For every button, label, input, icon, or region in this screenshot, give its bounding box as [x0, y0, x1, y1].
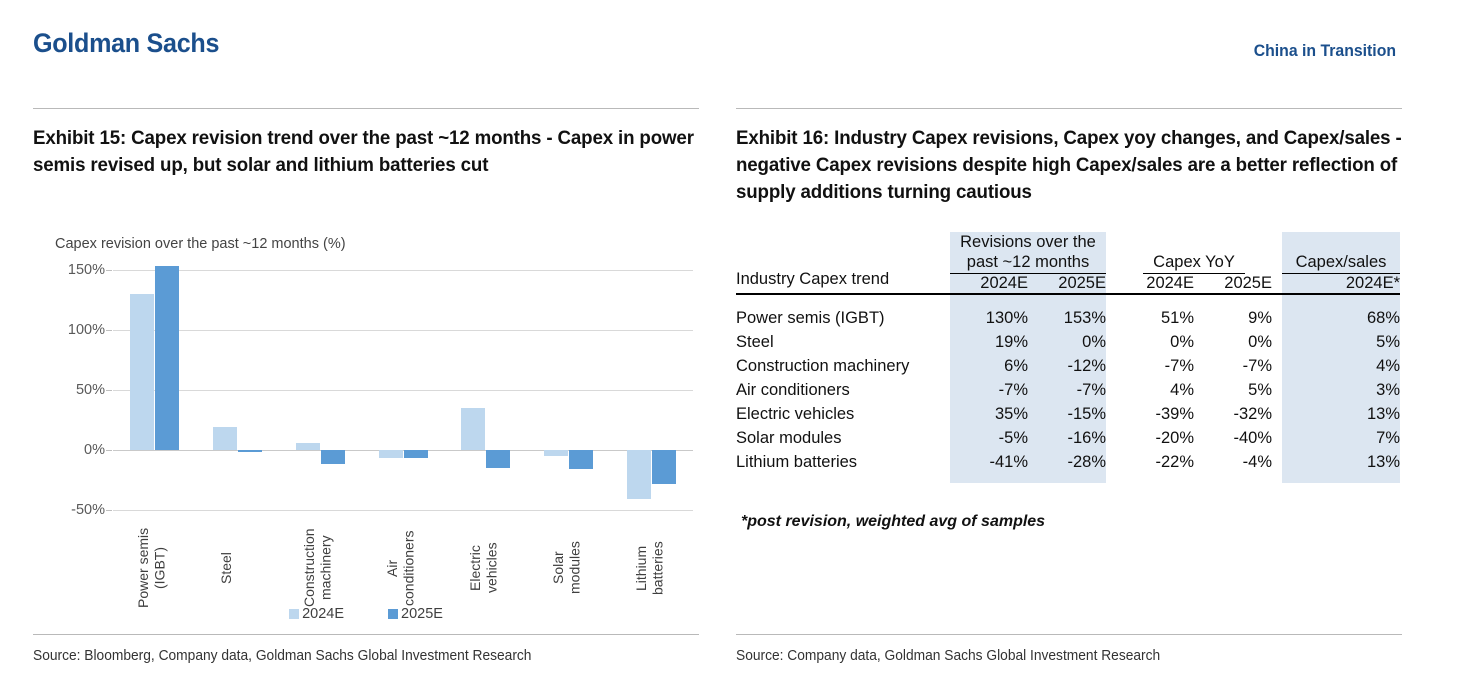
table-bottom-pad-row [736, 474, 1400, 483]
chart-bar [130, 294, 154, 450]
table-group-header-text: Capex YoY [1143, 252, 1245, 274]
divider-bottom-left [33, 634, 699, 635]
table-column-gap [1272, 306, 1282, 330]
table-column-gap [1106, 232, 1116, 274]
table-row-name: Electric vehicles [736, 402, 950, 426]
legend-item: 2024E [289, 606, 344, 622]
chart-gridline [113, 270, 693, 271]
table-pad-cell [1106, 474, 1116, 483]
table-pad-cell [1028, 474, 1106, 483]
chart-y-tick-mark [106, 330, 112, 331]
table-column-gap [1272, 450, 1282, 474]
chart-bar [296, 443, 320, 450]
table-row[interactable]: Construction machinery6%-12%-7%-7%4% [736, 354, 1400, 378]
divider-top-left [33, 108, 699, 109]
table-row[interactable]: Electric vehicles35%-15%-39%-32%13% [736, 402, 1400, 426]
table-cell-value: 0% [1194, 330, 1272, 354]
chart-plot-area: 150%100%50%0%-50% [113, 270, 693, 510]
table-row-name: Steel [736, 330, 950, 354]
table-pad-cell [950, 474, 1028, 483]
table-footnote: *post revision, weighted avg of samples [741, 513, 1045, 531]
exhibit-16-title: Exhibit 16: Industry Capex revisions, Ca… [736, 125, 1408, 206]
table-cell-value: -16% [1028, 426, 1106, 450]
chart-bar [213, 427, 237, 450]
table-cell-value: 4% [1282, 354, 1400, 378]
table-cell-value: -39% [1116, 402, 1194, 426]
table-spacer-row [736, 294, 1400, 306]
chart-bar [404, 450, 428, 458]
table-spacer-cell [1106, 294, 1116, 306]
table-column-gap [1272, 274, 1282, 293]
chart-y-tick-mark [106, 510, 112, 511]
table-row-name: Solar modules [736, 426, 950, 450]
source-note-left: Source: Bloomberg, Company data, Goldman… [33, 648, 531, 664]
chart-y-tick-label: 0% [84, 442, 105, 458]
table-column-gap [1106, 274, 1116, 293]
chart-axis-caption: Capex revision over the past ~12 months … [55, 236, 346, 252]
table-row[interactable]: Power semis (IGBT)130%153%51%9%68% [736, 306, 1400, 330]
table-group-header: Capex/sales [1282, 232, 1400, 274]
table-column-gap [1106, 354, 1116, 378]
chart-y-tick-label: 100% [68, 322, 105, 338]
chart-bar [379, 450, 403, 458]
page-header: Goldman Sachs China in Transition [33, 28, 1396, 74]
table-cell-value: -22% [1116, 450, 1194, 474]
table-column-gap [1272, 354, 1282, 378]
table-cell-value: -32% [1194, 402, 1272, 426]
legend-color-swatch [289, 609, 299, 619]
table-cell-value: 6% [950, 354, 1028, 378]
table-cell-value: 51% [1116, 306, 1194, 330]
table-spacer-cell [736, 294, 950, 306]
table-header-group-row: Industry Capex trendRevisions over the p… [736, 232, 1400, 274]
table-year-header: 2024E* [1282, 274, 1400, 293]
table-column-gap [1272, 232, 1282, 274]
table-row-name: Air conditioners [736, 378, 950, 402]
table-cell-value: -7% [1116, 354, 1194, 378]
industry-capex-table-wrap: Industry Capex trendRevisions over the p… [736, 232, 1402, 483]
table-cell-value: 68% [1282, 306, 1400, 330]
chart-y-tick-label: -50% [71, 502, 105, 518]
report-series-title: China in Transition [1254, 41, 1396, 61]
table-column-gap [1106, 402, 1116, 426]
table-year-header: 2025E [1028, 274, 1106, 293]
table-row[interactable]: Lithium batteries-41%-28%-22%-4%13% [736, 450, 1400, 474]
chart-y-tick-label: 50% [76, 382, 105, 398]
chart-y-tick-label: 150% [68, 262, 105, 278]
table-cell-value: -7% [950, 378, 1028, 402]
table-row-name: Construction machinery [736, 354, 950, 378]
table-column-gap [1106, 330, 1116, 354]
chart-y-tick-mark [106, 450, 112, 451]
table-year-header: 2025E [1194, 274, 1272, 293]
table-row[interactable]: Steel19%0%0%0%5% [736, 330, 1400, 354]
table-pad-cell [1116, 474, 1194, 483]
table-cell-value: 130% [950, 306, 1028, 330]
chart-legend: 2024E2025E [33, 606, 699, 622]
source-note-right: Source: Company data, Goldman Sachs Glob… [736, 648, 1160, 664]
legend-item: 2025E [388, 606, 443, 622]
table-cell-value: 4% [1116, 378, 1194, 402]
table-pad-cell [1272, 474, 1282, 483]
table-column-gap [1272, 378, 1282, 402]
table-cell-value: -5% [950, 426, 1028, 450]
chart-gridline [113, 510, 693, 511]
table-column-gap [1272, 330, 1282, 354]
table-column-gap [1106, 306, 1116, 330]
divider-bottom-right [736, 634, 1402, 635]
table-pad-cell [736, 474, 950, 483]
chart-bar [321, 450, 345, 464]
table-cell-value: -7% [1028, 378, 1106, 402]
table-cell-value: -41% [950, 450, 1028, 474]
table-year-header: 2024E [1116, 274, 1194, 293]
chart-bar [544, 450, 568, 456]
table-spacer-cell [1194, 294, 1272, 306]
industry-capex-table: Industry Capex trendRevisions over the p… [736, 232, 1400, 483]
table-cell-value: -12% [1028, 354, 1106, 378]
table-column-gap [1272, 426, 1282, 450]
table-spacer-cell [950, 294, 1028, 306]
table-row-name: Lithium batteries [736, 450, 950, 474]
exhibit-15-panel: Exhibit 15: Capex revision trend over th… [33, 108, 699, 179]
table-row-name: Power semis (IGBT) [736, 306, 950, 330]
table-column-gap [1106, 426, 1116, 450]
table-spacer-cell [1272, 294, 1282, 306]
table-group-header: Revisions over the past ~12 months [950, 232, 1106, 274]
table-pad-cell [1194, 474, 1272, 483]
table-spacer-cell [1028, 294, 1106, 306]
table-cell-value: 9% [1194, 306, 1272, 330]
table-year-header: 2024E [950, 274, 1028, 293]
table-cell-value: -28% [1028, 450, 1106, 474]
table-cell-value: 3% [1282, 378, 1400, 402]
table-cell-value: 13% [1282, 450, 1400, 474]
chart-bar [486, 450, 510, 468]
table-cell-value: 13% [1282, 402, 1400, 426]
legend-color-swatch [388, 609, 398, 619]
table-cell-value: 0% [1116, 330, 1194, 354]
chart-bar [238, 450, 262, 452]
chart-bar [627, 450, 651, 499]
chart-bar [569, 450, 593, 469]
table-group-header-text: Capex/sales [1282, 252, 1400, 274]
table-spacer-cell [1116, 294, 1194, 306]
table-cell-value: 5% [1282, 330, 1400, 354]
table-column-gap [1106, 378, 1116, 402]
table-row[interactable]: Air conditioners-7%-7%4%5%3% [736, 378, 1400, 402]
table-cell-value: 35% [950, 402, 1028, 426]
capex-revision-bar-chart: Capex revision over the past ~12 months … [33, 236, 699, 626]
table-group-header: Capex YoY [1116, 232, 1272, 274]
chart-y-tick-mark [106, 390, 112, 391]
chart-bar [652, 450, 676, 484]
chart-gridline [113, 330, 693, 331]
chart-bar [461, 408, 485, 450]
table-row[interactable]: Solar modules-5%-16%-20%-40%7% [736, 426, 1400, 450]
chart-y-tick-mark [106, 270, 112, 271]
legend-label: 2024E [302, 606, 344, 622]
table-cell-value: 5% [1194, 378, 1272, 402]
report-page: Goldman Sachs China in Transition Exhibi… [0, 0, 1478, 680]
table-cell-value: 7% [1282, 426, 1400, 450]
divider-top-right [736, 108, 1402, 109]
legend-label: 2025E [401, 606, 443, 622]
table-group-header-text: Revisions over the past ~12 months [950, 232, 1106, 274]
goldman-sachs-logo-text: Goldman Sachs [33, 28, 219, 59]
table-cell-value: 153% [1028, 306, 1106, 330]
table-cell-value: -15% [1028, 402, 1106, 426]
exhibit-16-panel: Exhibit 16: Industry Capex revisions, Ca… [736, 108, 1402, 206]
table-cell-value: 0% [1028, 330, 1106, 354]
table-cell-value: -7% [1194, 354, 1272, 378]
chart-gridline [113, 390, 693, 391]
table-cell-value: 19% [950, 330, 1028, 354]
table-cell-value: -4% [1194, 450, 1272, 474]
table-column-gap [1272, 402, 1282, 426]
chart-bar [155, 266, 179, 450]
table-corner-label: Industry Capex trend [736, 232, 950, 293]
table-pad-cell [1282, 474, 1400, 483]
table-column-gap [1106, 450, 1116, 474]
table-spacer-cell [1282, 294, 1400, 306]
exhibit-15-title: Exhibit 15: Capex revision trend over th… [33, 125, 705, 179]
table-cell-value: -20% [1116, 426, 1194, 450]
table-cell-value: -40% [1194, 426, 1272, 450]
